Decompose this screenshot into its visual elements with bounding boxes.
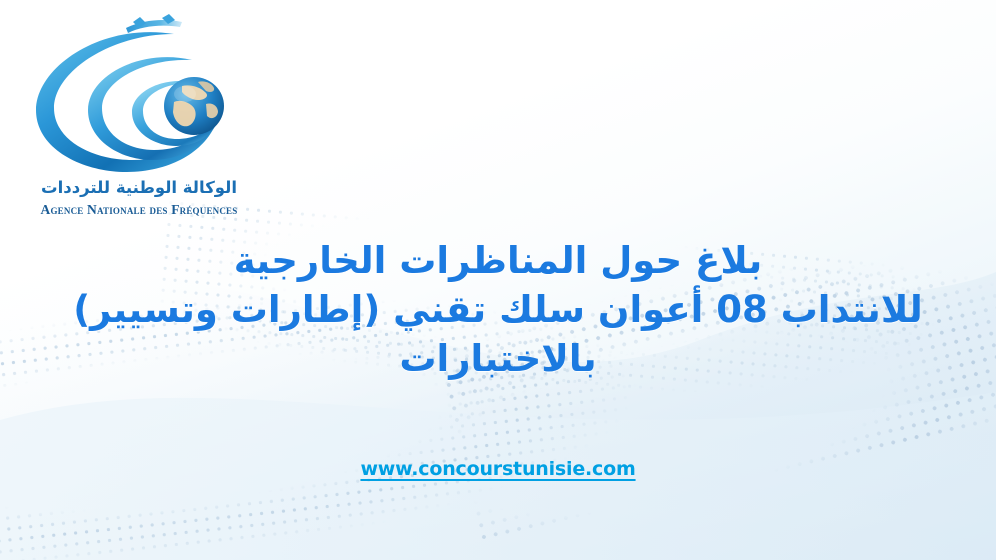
announcement-banner: الوكالة الوطنية للترددات Agence National… <box>0 0 996 560</box>
website-url-link[interactable]: www.concourstunisie.com <box>360 458 635 480</box>
agency-logo: الوكالة الوطنية للترددات Agence National… <box>8 14 276 219</box>
headline-line-3: بالاختبارات <box>0 334 996 383</box>
headline-line-2: للانتداب 08 أعوان سلك تقني (إطارات وتسيي… <box>0 285 996 334</box>
anf-crescent-globe-logo <box>22 14 242 174</box>
headline-line-1: بلاغ حول المناظرات الخارجية <box>0 236 996 285</box>
logo-arabic-name: الوكالة الوطنية للترددات <box>8 178 270 197</box>
logo-french-name: Agence Nationale des Fréquences <box>8 202 270 218</box>
website-url[interactable]: www.concourstunisie.com <box>0 458 996 480</box>
announcement-headline: بلاغ حول المناظرات الخارجية للانتداب 08 … <box>0 236 996 384</box>
